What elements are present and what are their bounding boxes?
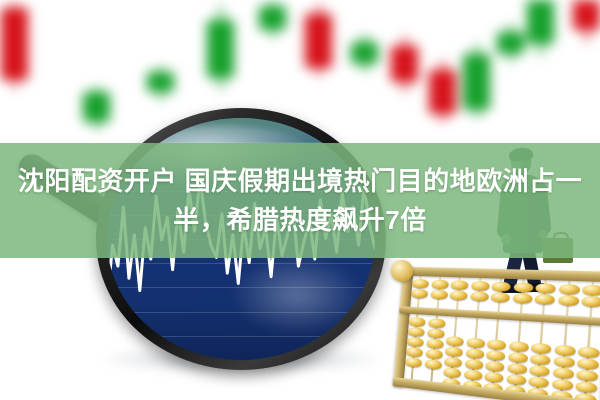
- abacus-bead: [428, 318, 446, 328]
- candlestick: [1, 0, 28, 160]
- abacus-bead: [554, 344, 576, 356]
- abacus-bead: [485, 361, 505, 373]
- abacus-bead: [512, 293, 532, 304]
- abacus-bead: [431, 279, 449, 289]
- abacus-bead: [531, 343, 552, 355]
- abacus-knob-icon: [391, 260, 413, 282]
- abacus-bead: [553, 356, 575, 368]
- abacus-bead: [484, 371, 504, 383]
- abacus-bead: [491, 292, 510, 302]
- abacus-bead: [577, 358, 599, 370]
- abacus-bead: [445, 346, 463, 357]
- abacus-bead: [582, 285, 600, 296]
- abacus-bead: [470, 291, 489, 301]
- abacus-bead: [508, 352, 528, 364]
- abacus-bead: [408, 327, 425, 337]
- abacus-bead: [427, 328, 445, 339]
- lens-reflection-icon: [230, 254, 364, 336]
- abacus-bead: [443, 367, 461, 378]
- article-cover-image: 沈阳配资开户 国庆假期出境热门目的地欧洲占一 半，希腊热度飙升7倍: [0, 0, 600, 400]
- abacus-bead: [578, 346, 600, 358]
- abacus-bead: [409, 317, 426, 327]
- abacus-bead: [471, 281, 490, 291]
- abacus-bead: [576, 369, 598, 382]
- candlestick: [429, 0, 456, 160]
- abacus-bead: [406, 347, 423, 358]
- abacus-bead: [491, 282, 510, 292]
- abacus-bead: [407, 337, 424, 348]
- abacus-bead: [466, 337, 485, 348]
- abacus-bead: [557, 295, 578, 306]
- candlestick: [527, 0, 554, 160]
- abacus-bead: [534, 294, 555, 305]
- abacus-bead: [513, 282, 533, 293]
- abacus-bead: [450, 280, 468, 290]
- abacus-bead: [411, 289, 428, 299]
- candlestick: [463, 0, 490, 160]
- abacus-bead: [412, 279, 429, 289]
- headline-line-1: 沈阳配资开户 国庆假期出境热门目的地欧洲占一: [18, 162, 582, 201]
- abacus-bead: [450, 290, 468, 300]
- abacus-bead: [581, 296, 600, 307]
- abacus-bead: [444, 357, 462, 368]
- abacus-frame: [393, 267, 600, 400]
- abacus-bead: [507, 363, 527, 375]
- abacus-bead: [446, 336, 464, 347]
- abacus-bead: [463, 369, 482, 381]
- candlestick: [391, 0, 418, 160]
- abacus-bead: [425, 349, 443, 360]
- abacus-bead: [426, 338, 444, 349]
- abacus-bead: [530, 354, 551, 366]
- abacus-bead: [506, 374, 526, 386]
- abacus-bead: [508, 341, 528, 352]
- abacus-bead: [465, 348, 484, 359]
- abacus-bead: [551, 378, 573, 391]
- abacus-bead: [529, 365, 550, 377]
- abacus-bead: [558, 284, 579, 295]
- headline-line-2: 半，希腊热度飙升7倍: [173, 201, 426, 240]
- abacus-bead: [528, 376, 549, 388]
- candlestick: [573, 0, 600, 160]
- page-title: 沈阳配资开户 国庆假期出境热门目的地欧洲占一 半，希腊热度飙升7倍: [0, 143, 600, 258]
- abacus-bead: [552, 367, 574, 379]
- abacus-bead: [405, 357, 422, 368]
- abacus-bead: [464, 359, 483, 370]
- abacus-bead: [486, 350, 506, 361]
- abacus-bead: [575, 381, 597, 394]
- abacus-bead: [535, 283, 556, 294]
- abacus-bead: [487, 339, 507, 350]
- abacus-bead: [430, 290, 448, 300]
- golden-abacus: [398, 266, 596, 400]
- abacus-bead: [424, 359, 442, 370]
- candlestick: [497, 0, 524, 160]
